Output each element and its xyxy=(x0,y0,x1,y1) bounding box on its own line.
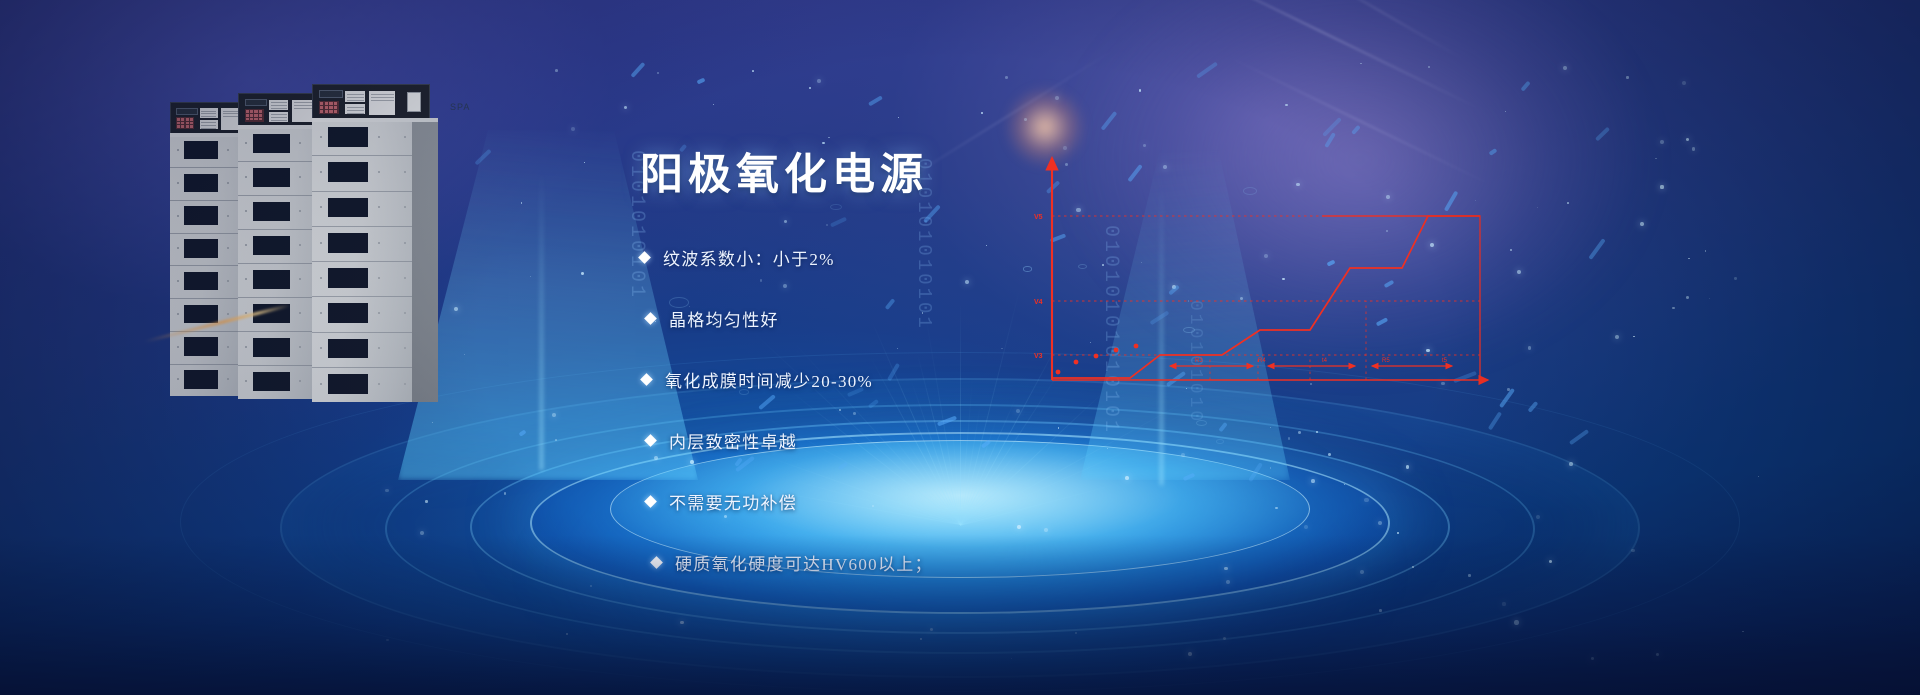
diamond-bullet-icon xyxy=(644,495,657,508)
cabinet-top-cap xyxy=(312,118,438,122)
product-image-cabinets: SPA xyxy=(170,84,480,384)
particle-dot xyxy=(555,69,558,72)
cabinet-screw xyxy=(378,206,380,208)
cabinet-vent xyxy=(184,305,218,323)
particle-dot xyxy=(1143,144,1147,148)
cabinet-vent xyxy=(184,370,218,388)
label-text-line xyxy=(201,113,216,114)
cabinet-screw xyxy=(404,312,406,314)
cabinet-screw xyxy=(245,380,247,382)
particle-dot xyxy=(504,492,506,494)
label-text-line xyxy=(371,97,394,98)
particle-dot xyxy=(1686,296,1689,299)
particle-dot xyxy=(1397,532,1399,534)
particle-dot xyxy=(981,112,983,114)
particle-dot xyxy=(1563,66,1567,70)
label-text-line xyxy=(371,100,394,101)
cabinet-screw xyxy=(299,142,301,144)
particle-streak xyxy=(1520,80,1530,91)
data-point xyxy=(1134,344,1139,349)
label-text-line xyxy=(347,94,364,95)
keypad-key[interactable] xyxy=(325,106,328,109)
feature-list-item-label: 不需要无功补偿 xyxy=(669,489,797,514)
particle-streak xyxy=(518,429,526,436)
label-text-line xyxy=(201,125,216,126)
particle-dot xyxy=(1344,484,1345,485)
keypad-key[interactable] xyxy=(320,110,323,113)
particle-dot xyxy=(1514,620,1518,624)
particle-dot xyxy=(1734,277,1736,279)
cabinet-side-face xyxy=(412,120,438,402)
particle-dot xyxy=(1742,631,1744,633)
cabinet-screw xyxy=(227,346,229,348)
particle-dot xyxy=(1406,465,1409,468)
cabinet-screw xyxy=(299,176,301,178)
feature-list-item: 不需要无功补偿 xyxy=(646,479,1080,524)
label-text-line xyxy=(201,128,216,129)
cabinet-vent xyxy=(328,268,368,288)
cabinet-screw xyxy=(320,206,322,208)
feature-list-item: 内层致密性卓越 xyxy=(646,418,1080,463)
feature-list-item-label: 纹波系数小：小于2% xyxy=(663,245,835,270)
cabinet-screw xyxy=(404,242,406,244)
particle-dot xyxy=(1364,498,1368,502)
cabinet-vent xyxy=(328,339,368,359)
cabinet-control-panel xyxy=(312,84,430,120)
particle-dot xyxy=(1011,658,1013,660)
cabinet-label-plate xyxy=(200,120,218,129)
particle-streak xyxy=(1595,126,1610,141)
light-streak xyxy=(1158,0,1482,111)
particle-dot xyxy=(713,104,714,105)
particle-dot xyxy=(1567,202,1569,204)
cabinet-screw xyxy=(177,313,179,315)
keypad-key[interactable] xyxy=(325,110,328,113)
cabinet-display xyxy=(245,99,268,107)
keypad-key[interactable] xyxy=(259,110,262,113)
particle-dot xyxy=(1270,467,1271,468)
particle-dot xyxy=(1705,250,1707,252)
cabinet-screw xyxy=(378,171,380,173)
particle-dot xyxy=(624,106,627,109)
particle-dot xyxy=(1075,632,1077,634)
cabinet-screw xyxy=(227,215,229,217)
cabinet-label-plate xyxy=(369,91,395,115)
cabinet-vent xyxy=(253,134,290,153)
particle-dot xyxy=(1536,515,1540,519)
particle-streak xyxy=(1248,462,1263,482)
particle-dot xyxy=(1311,479,1315,483)
cabinet-screw xyxy=(227,182,229,184)
cabinet-screw xyxy=(245,142,247,144)
particle-dot xyxy=(1537,207,1538,208)
cabinet-vent xyxy=(184,337,218,355)
cabinet-vent xyxy=(184,206,218,224)
particle-dot xyxy=(1660,185,1663,188)
keypad-key[interactable] xyxy=(250,114,253,117)
particle-dot xyxy=(1224,567,1227,570)
cabinet-vent xyxy=(328,233,368,253)
cabinet-label-plate xyxy=(345,91,365,102)
particle-dot xyxy=(1672,307,1674,309)
particle-dot xyxy=(1640,222,1644,226)
particle-streak xyxy=(630,62,645,78)
particle-dot xyxy=(1223,637,1226,640)
keypad-key[interactable] xyxy=(254,114,257,117)
particle-streak xyxy=(1183,473,1195,481)
particle-dot xyxy=(1549,560,1552,563)
keypad-key[interactable] xyxy=(246,110,249,113)
cabinet-screw xyxy=(320,136,322,138)
banner-stage: 01010101010101 0101010101 010101010101 0… xyxy=(0,0,1920,695)
particle-dot xyxy=(385,489,389,493)
particle-streak xyxy=(868,96,883,107)
particle-dot xyxy=(521,202,523,204)
keypad-key[interactable] xyxy=(325,102,328,105)
keypad-key[interactable] xyxy=(254,110,257,113)
cabinet-screw xyxy=(177,280,179,282)
cabinet-vent xyxy=(328,127,368,147)
keypad-key[interactable] xyxy=(181,118,184,121)
particle-dot xyxy=(1682,81,1686,85)
cabinet-screw xyxy=(227,149,229,151)
keypad-key[interactable] xyxy=(177,125,180,128)
particle-dot xyxy=(1591,657,1594,660)
cabinet-screw xyxy=(404,171,406,173)
label-text-line xyxy=(347,100,364,101)
particle-dot xyxy=(1428,66,1430,68)
keypad-key[interactable] xyxy=(190,125,193,128)
label-text-line xyxy=(271,117,287,118)
cabinet-screw xyxy=(320,242,322,244)
y-tick-label: V4 xyxy=(1034,299,1043,306)
keypad-key[interactable] xyxy=(320,106,323,109)
cabinet-keypad[interactable] xyxy=(319,101,339,114)
particle-streak xyxy=(1322,117,1342,137)
cabinet-screw xyxy=(320,383,322,385)
cabinet-screw xyxy=(227,378,229,380)
cabinet-screw xyxy=(245,210,247,212)
dim-label: R3 xyxy=(1195,358,1203,364)
cabinet-display xyxy=(176,108,198,115)
cabinet-label-plate xyxy=(200,108,218,118)
particle-dot xyxy=(1379,609,1382,612)
waveform-svg: V5 V4 V3 R3 R4 t4 R5 t5 xyxy=(1010,150,1510,400)
particle-dot xyxy=(1285,104,1288,107)
particle-dot xyxy=(555,439,557,441)
particle-dot xyxy=(552,413,556,417)
data-point xyxy=(1056,370,1061,375)
cabinet-screw xyxy=(320,171,322,173)
cabinet-vent xyxy=(253,236,290,255)
cabinet-vent xyxy=(328,374,368,394)
cabinet-vent xyxy=(184,239,218,257)
particle-dot xyxy=(1660,140,1664,144)
cabinet-screw xyxy=(404,136,406,138)
particle-dot xyxy=(1298,431,1301,434)
cabinet-screw xyxy=(404,347,406,349)
keypad-key[interactable] xyxy=(254,118,257,121)
keypad-key[interactable] xyxy=(334,102,337,105)
cabinet-screw xyxy=(378,347,380,349)
particle-dot xyxy=(1631,549,1634,552)
particle-dot xyxy=(1615,335,1619,339)
label-text-line xyxy=(201,122,216,123)
particle-dot xyxy=(1181,453,1185,457)
dim-label: t4 xyxy=(1322,358,1328,364)
particle-dot xyxy=(1626,76,1628,78)
cabinet-screw xyxy=(227,313,229,315)
particle-dot xyxy=(817,79,821,83)
keypad-key[interactable] xyxy=(190,118,193,121)
particle-dot xyxy=(1005,76,1008,79)
particle-dot xyxy=(432,422,433,423)
cabinet-screw xyxy=(299,312,301,314)
particle-streak xyxy=(696,77,705,84)
diamond-bullet-icon xyxy=(640,373,653,386)
particle-dot xyxy=(1688,258,1689,259)
data-point xyxy=(1114,348,1119,353)
cabinet-screw xyxy=(299,380,301,382)
cabinet-label-plate xyxy=(269,100,288,110)
particle-dot xyxy=(898,117,899,118)
particle-dot xyxy=(1656,653,1659,656)
label-text-line xyxy=(347,110,364,111)
particle-dot xyxy=(1360,570,1364,574)
y-tick-label: V3 xyxy=(1034,353,1043,360)
keypad-key[interactable] xyxy=(246,118,249,121)
waveform-line xyxy=(1052,216,1480,378)
data-point xyxy=(1074,360,1079,365)
label-text-line xyxy=(347,97,364,98)
keypad-key[interactable] xyxy=(329,106,332,109)
keypad-key[interactable] xyxy=(186,118,189,121)
particle-dot xyxy=(1270,427,1271,428)
diamond-bullet-icon xyxy=(638,251,651,264)
particle-streak xyxy=(1528,401,1539,413)
keypad-key[interactable] xyxy=(190,122,193,125)
particle-dot xyxy=(420,531,424,535)
cabinet-keypad[interactable] xyxy=(245,109,264,121)
label-text-line xyxy=(347,113,364,114)
cabinet-screw xyxy=(245,346,247,348)
particle-dot xyxy=(657,72,659,74)
particle-streak xyxy=(830,217,847,228)
particle-streak xyxy=(1325,132,1337,148)
keypad-key[interactable] xyxy=(329,102,332,105)
diamond-bullet-icon xyxy=(644,312,657,325)
particle-dot xyxy=(1107,448,1108,449)
particle-streak xyxy=(1219,422,1229,433)
keypad-key[interactable] xyxy=(246,114,249,117)
particle-dot xyxy=(1188,652,1192,656)
dim-label: R4 xyxy=(1258,358,1266,364)
particle-dot xyxy=(566,633,568,635)
cabinet-screw xyxy=(177,346,179,348)
cabinet-screw xyxy=(245,278,247,280)
cabinet-vent xyxy=(184,141,218,159)
particle-dot xyxy=(1378,521,1382,525)
particle-dot xyxy=(1055,96,1059,100)
feature-list-item-label: 内层致密性卓越 xyxy=(669,428,797,453)
particle-dot xyxy=(1569,462,1573,466)
keypad-key[interactable] xyxy=(259,118,262,121)
particle-dot xyxy=(1528,346,1531,349)
cabinet-screw xyxy=(299,346,301,348)
cabinet-vent xyxy=(253,168,290,187)
feature-list-item-label: 氧化成膜时间减少20-30% xyxy=(665,367,873,392)
particle-dot xyxy=(920,638,922,640)
dim-label: t5 xyxy=(1442,358,1448,364)
cabinet-screw xyxy=(299,210,301,212)
cabinet-screw xyxy=(245,176,247,178)
cabinet-screw xyxy=(227,247,229,249)
feature-list-item: 硬质氧化硬度可达HV600以上； xyxy=(652,540,1080,585)
particle-dot xyxy=(1468,574,1470,576)
keypad-key[interactable] xyxy=(186,122,189,125)
cabinet-screw xyxy=(177,149,179,151)
label-text-line xyxy=(271,120,287,121)
particle-dot xyxy=(1304,525,1308,529)
particle-dot xyxy=(581,272,584,275)
keypad-key[interactable] xyxy=(334,106,337,109)
particle-dot xyxy=(386,639,388,641)
particle-dot xyxy=(1517,270,1521,274)
label-text-line xyxy=(201,111,216,112)
particle-dot xyxy=(1316,431,1318,433)
particle-dot xyxy=(1655,158,1657,160)
cabinet-screw xyxy=(320,277,322,279)
cabinet-screw xyxy=(378,136,380,138)
power-cabinet-unit: SPA xyxy=(312,84,438,406)
keypad-key[interactable] xyxy=(320,102,323,105)
light-beam-thin xyxy=(540,170,543,470)
particle-dot xyxy=(809,87,811,89)
particle-dot xyxy=(1633,336,1634,337)
page-title: 阳极氧化电源 xyxy=(640,140,928,202)
keypad-key[interactable] xyxy=(181,125,184,128)
brand-logo: SPA xyxy=(450,102,470,112)
cabinet-screw xyxy=(320,347,322,349)
label-text-line xyxy=(271,105,287,106)
particle-dot xyxy=(680,621,683,624)
keypad-key[interactable] xyxy=(177,118,180,121)
particle-ring xyxy=(830,204,842,211)
cabinet-keypad[interactable] xyxy=(176,117,194,129)
cabinet-screw xyxy=(299,244,301,246)
label-text-line xyxy=(271,114,287,115)
particle-dot xyxy=(1758,476,1759,477)
cabinet-breaker[interactable] xyxy=(407,92,421,112)
cabinet-screw xyxy=(378,312,380,314)
particle-streak xyxy=(1488,411,1502,430)
particle-dot xyxy=(1692,147,1695,150)
particle-dot xyxy=(1288,437,1290,439)
keypad-key[interactable] xyxy=(181,122,184,125)
keypad-key[interactable] xyxy=(259,114,262,117)
particle-ring xyxy=(1216,439,1225,444)
cabinet-screw xyxy=(177,215,179,217)
particle-dot xyxy=(584,162,585,163)
particle-dot xyxy=(1709,298,1710,299)
particle-dot xyxy=(1226,580,1230,584)
label-text-line xyxy=(347,107,364,108)
particle-streak xyxy=(923,205,941,224)
particle-dot xyxy=(571,127,575,131)
particle-dot xyxy=(784,220,788,224)
diamond-bullet-icon xyxy=(644,434,657,447)
cabinet-label-plate xyxy=(345,104,365,114)
y-tick-label: V5 xyxy=(1034,214,1043,221)
cabinet-screw xyxy=(378,277,380,279)
cabinet-label-plate xyxy=(269,112,288,122)
particle-dot xyxy=(826,224,827,225)
cabinet-screw xyxy=(404,277,406,279)
light-streak xyxy=(1293,0,1467,62)
diamond-bullet-icon xyxy=(650,556,663,569)
keypad-key[interactable] xyxy=(250,110,253,113)
cabinet-vent xyxy=(328,162,368,182)
keypad-key[interactable] xyxy=(186,125,189,128)
keypad-key[interactable] xyxy=(329,110,332,113)
dim-label: R5 xyxy=(1382,358,1390,364)
particle-dot xyxy=(1275,507,1278,510)
cabinet-vent xyxy=(328,198,368,218)
particle-dot xyxy=(828,137,830,139)
particle-dot xyxy=(1360,63,1362,65)
particle-dot xyxy=(1502,602,1505,605)
cabinet-screw xyxy=(404,206,406,208)
feature-list-item-label: 硬质氧化硬度可达HV600以上； xyxy=(675,550,933,575)
particle-streak xyxy=(1588,238,1605,260)
cabinet-screw xyxy=(378,383,380,385)
particle-streak xyxy=(1569,429,1590,445)
data-point xyxy=(1094,354,1099,359)
cabinet-screw xyxy=(299,278,301,280)
particle-streak xyxy=(1196,61,1218,78)
keypad-key[interactable] xyxy=(177,122,180,125)
particle-dot xyxy=(1505,111,1506,112)
cabinet-screw xyxy=(177,182,179,184)
feature-list-item-label: 晶格均匀性好 xyxy=(669,306,779,331)
particle-dot xyxy=(1125,476,1129,480)
particle-dot xyxy=(530,276,531,277)
particle-streak xyxy=(1351,125,1360,135)
cabinet-vent xyxy=(253,270,290,289)
label-text-line xyxy=(201,116,216,117)
keypad-key[interactable] xyxy=(250,118,253,121)
cabinet-screw xyxy=(320,312,322,314)
particle-dot xyxy=(1139,89,1141,91)
label-text-line xyxy=(371,94,394,95)
cabinet-vent xyxy=(184,174,218,192)
label-text-line xyxy=(271,102,287,103)
cabinet-display xyxy=(319,90,343,98)
cabinet-screw xyxy=(227,280,229,282)
particle-dot xyxy=(752,70,754,72)
particle-streak xyxy=(1100,111,1117,130)
particle-dot xyxy=(930,628,933,631)
cabinet-vent xyxy=(184,272,218,290)
cabinet-vent xyxy=(328,303,368,323)
label-text-line xyxy=(271,108,287,109)
cabinet-screw xyxy=(245,244,247,246)
keypad-key[interactable] xyxy=(334,110,337,113)
cabinet-vent xyxy=(253,372,290,391)
particle-ring xyxy=(1196,420,1207,426)
particle-dot xyxy=(1686,138,1689,141)
particle-dot xyxy=(1024,118,1027,121)
